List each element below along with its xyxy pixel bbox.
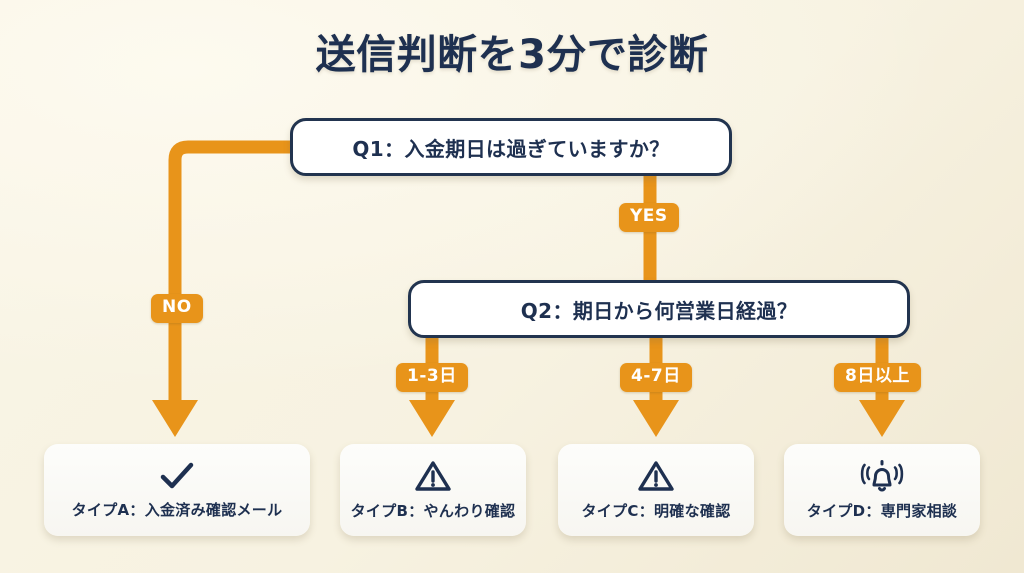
connector-no xyxy=(175,147,290,404)
question-box-q2[interactable]: Q2：期日から何営業日経過？ xyxy=(408,280,910,338)
result-card-type-b[interactable]: タイプB：やんわり確認 xyxy=(340,444,526,536)
result-card-type-a[interactable]: タイプA：入金済み確認メール xyxy=(44,444,310,536)
check-icon xyxy=(157,460,197,492)
arrowhead-4-7days xyxy=(633,400,679,437)
question-box-q1[interactable]: Q1：入金期日は過ぎていますか？ xyxy=(290,118,732,176)
warning-triangle-icon xyxy=(637,459,675,493)
edge-label-yes: YES xyxy=(619,203,679,232)
edge-label-1-3days: 1-3日 xyxy=(396,363,468,392)
question-q1-text: Q1：入金期日は過ぎていますか？ xyxy=(352,133,669,162)
result-card-type-c[interactable]: タイプC：明確な確認 xyxy=(558,444,754,536)
result-card-b-label: タイプB：やんわり確認 xyxy=(351,500,516,521)
question-q2-text: Q2：期日から何営業日経過？ xyxy=(521,295,798,324)
arrowhead-1-3days xyxy=(409,400,455,437)
diagram-canvas: 送信判断を3分で診断 Q1：入金期日は過ぎていますか？ Q2：期日から何営業日経… xyxy=(0,0,1024,573)
page-title: 送信判断を3分で診断 xyxy=(0,22,1024,80)
edge-label-no: NO xyxy=(151,294,203,323)
edge-label-4-7days: 4-7日 xyxy=(620,363,692,392)
arrowhead-no xyxy=(152,400,198,437)
result-card-d-label: タイプD：専門家相談 xyxy=(807,500,957,521)
arrowhead-8days-up xyxy=(859,400,905,437)
result-card-type-d[interactable]: タイプD：専門家相談 xyxy=(784,444,980,536)
result-card-c-label: タイプC：明確な確認 xyxy=(581,500,730,521)
edge-label-8days-up: 8日以上 xyxy=(834,363,921,392)
result-card-a-label: タイプA：入金済み確認メール xyxy=(72,499,283,520)
warning-triangle-icon xyxy=(414,459,452,493)
ringing-bell-icon xyxy=(858,459,906,493)
